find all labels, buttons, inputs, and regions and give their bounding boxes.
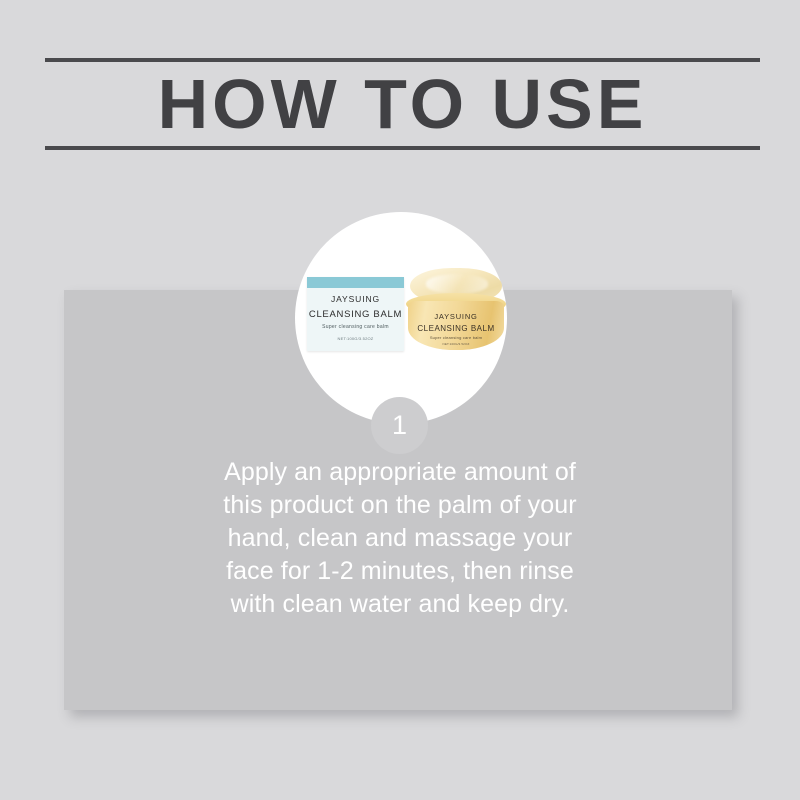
product-box-subtitle: Super cleansing care balm	[307, 324, 404, 330]
step-instruction-text: Apply an appropriate amount of this prod…	[220, 456, 580, 621]
page-header: HOW TO USE	[45, 58, 760, 150]
product-jar-net-weight: NET:100G/3.52OZ	[408, 342, 504, 346]
product-box: JAYSUING CLEANSING BALM Super cleansing …	[307, 277, 404, 351]
product-box-name: CLEANSING BALM	[307, 309, 404, 320]
page-title: HOW TO USE	[45, 58, 760, 150]
product-jar: JAYSUING CLEANSING BALM Super cleansing …	[406, 268, 506, 356]
header-rule-bottom	[45, 146, 760, 150]
product-box-brand: JAYSUING	[307, 294, 404, 304]
product-jar-subtitle: Super cleansing care balm	[408, 335, 504, 340]
product-box-net-weight: NET:100G/3.52OZ	[307, 336, 404, 341]
jar-cream-swirl	[426, 274, 488, 294]
product-jar-brand: JAYSUING	[408, 312, 504, 321]
jar-body: JAYSUING CLEANSING BALM Super cleansing …	[408, 301, 504, 350]
product-box-band	[307, 277, 404, 288]
product-jar-name: CLEANSING BALM	[408, 324, 504, 333]
step-number-badge: 1	[371, 397, 428, 454]
